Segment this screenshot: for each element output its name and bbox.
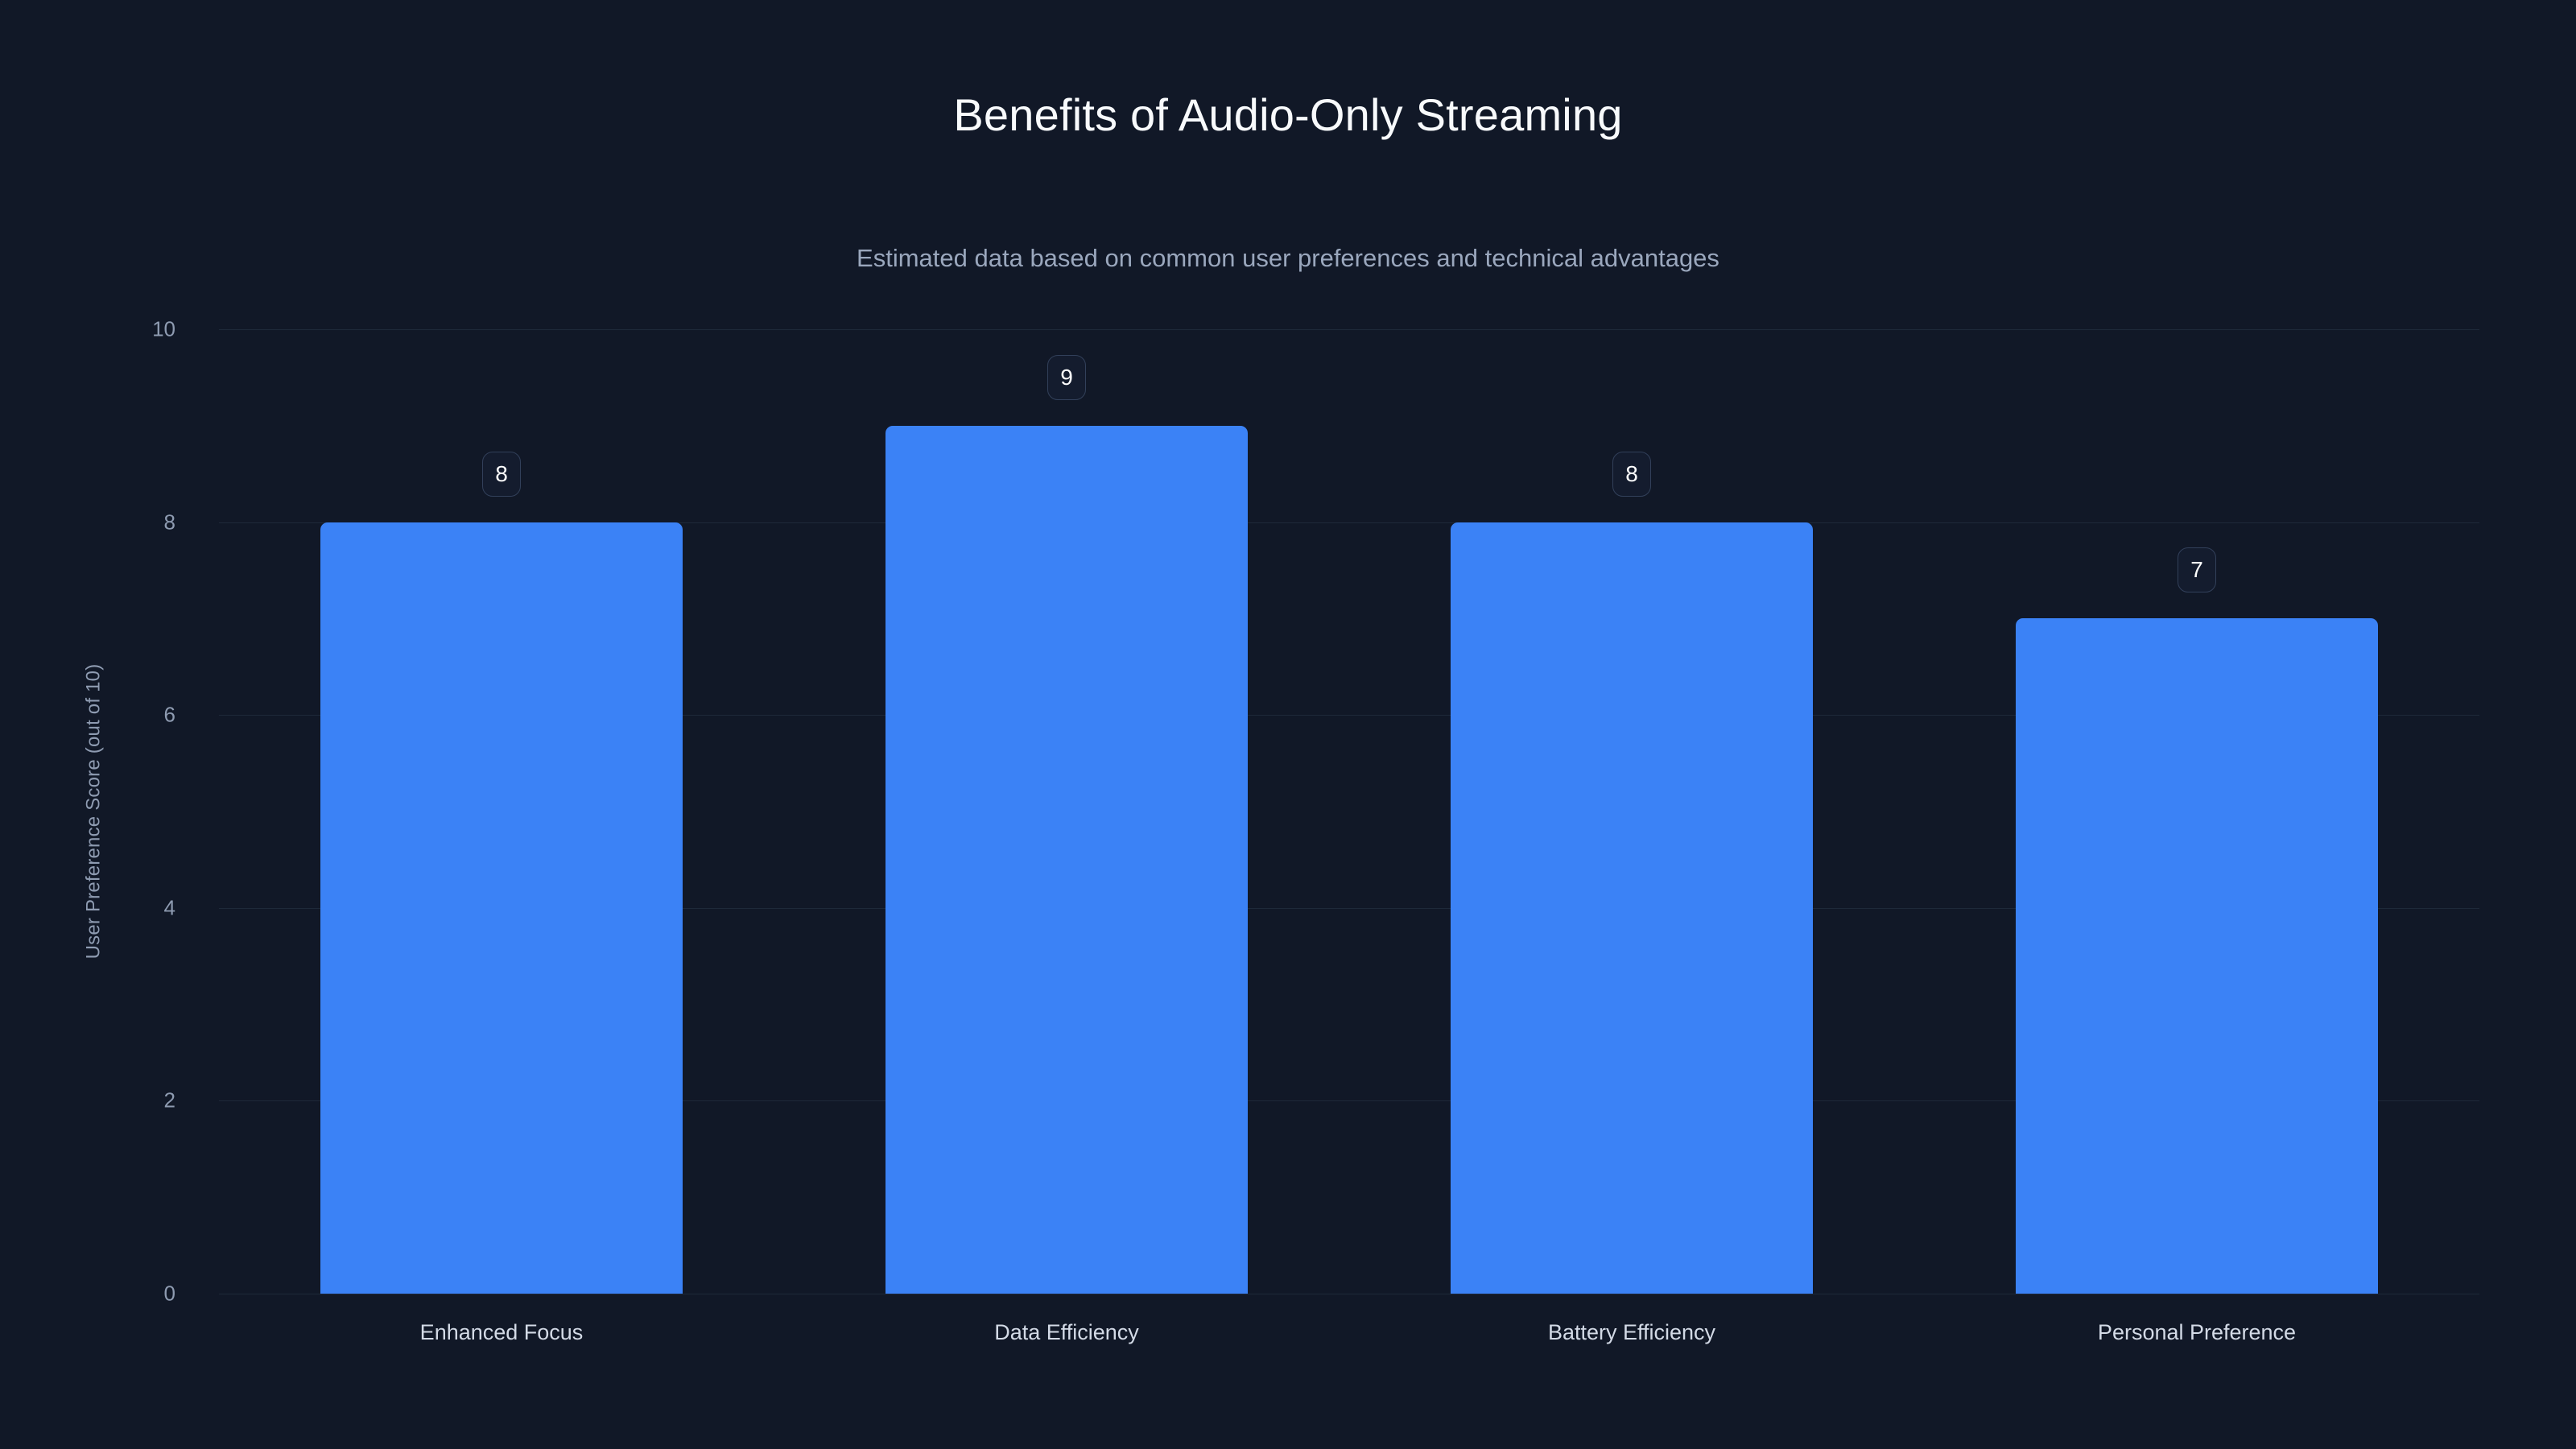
bar-value-badge: 7 <box>2178 547 2216 592</box>
y-axis-tick-label: 10 <box>152 317 175 342</box>
chart-subtitle: Estimated data based on common user pref… <box>0 243 2576 273</box>
chart-title: Benefits of Audio-Only Streaming <box>0 90 2576 140</box>
y-axis-tick-label: 2 <box>164 1088 175 1113</box>
x-axis-category-label: Personal Preference <box>2098 1320 2296 1345</box>
y-axis-tick-label: 6 <box>164 703 175 728</box>
bar-slot <box>885 329 1248 1294</box>
bar[interactable] <box>1451 522 1813 1294</box>
y-axis-tick-label: 8 <box>164 510 175 535</box>
x-axis-category-label: Enhanced Focus <box>420 1320 584 1345</box>
bar[interactable] <box>2016 618 2378 1294</box>
bar[interactable] <box>885 426 1248 1294</box>
bar-value-badge: 8 <box>1612 452 1651 497</box>
bar-value-badge: 8 <box>482 452 521 497</box>
y-axis-tick-label: 4 <box>164 895 175 920</box>
y-axis-tick-labels: 0246810 <box>0 329 200 1294</box>
bar-value-badge: 9 <box>1047 355 1086 400</box>
plot-area: 8987 <box>219 329 2479 1294</box>
bar-chart-canvas: Benefits of Audio-Only Streaming Estimat… <box>0 0 2576 1449</box>
bar[interactable] <box>320 522 683 1294</box>
bar-slot <box>2016 329 2378 1294</box>
x-axis-category-labels: Enhanced FocusData EfficiencyBattery Eff… <box>219 1320 2479 1356</box>
gridline <box>219 1294 2479 1294</box>
y-axis-tick-label: 0 <box>164 1282 175 1307</box>
x-axis-category-label: Data Efficiency <box>994 1320 1139 1345</box>
x-axis-category-label: Battery Efficiency <box>1548 1320 1715 1345</box>
